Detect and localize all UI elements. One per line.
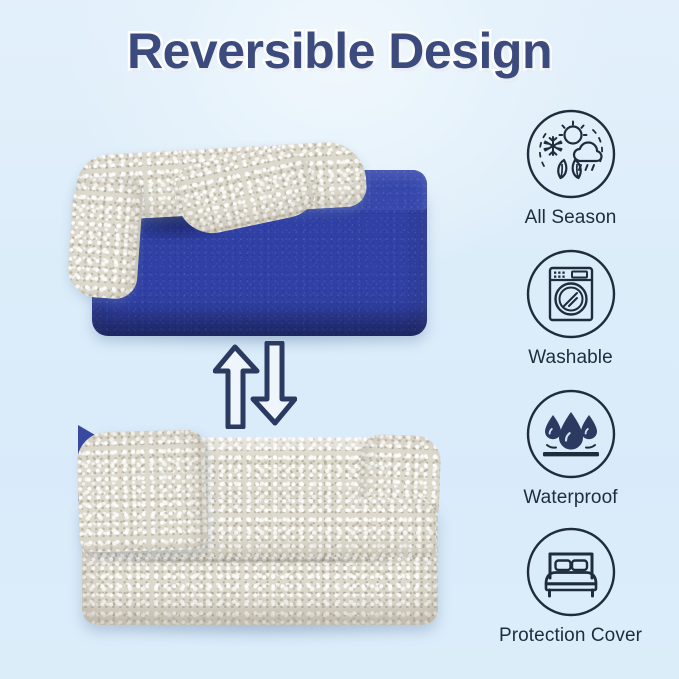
page-title-container: Reversible Design: [0, 22, 679, 80]
feature-label-protection-cover: Protection Cover: [462, 625, 679, 647]
feature-item-all-season: All Season: [462, 108, 679, 229]
reversible-arrows: [213, 341, 297, 429]
feature-item-waterproof: Waterproof: [462, 388, 679, 509]
arrow-up-icon: [215, 347, 257, 427]
feature-label-washable: Washable: [462, 347, 679, 369]
feature-list: All Season: [462, 108, 679, 668]
blanket-top-sherpa-flap: [66, 176, 144, 301]
feature-label-all-season: All Season: [462, 207, 679, 229]
blanket-blue-side-up: [68, 140, 443, 345]
feature-item-washable: Washable: [462, 248, 679, 369]
washing-machine-icon: [525, 248, 617, 340]
bed-icon: [525, 526, 617, 618]
all-season-icon: [525, 108, 617, 200]
blanket-bottom-sherpa-left: [76, 429, 207, 552]
infographic-page: Reversible Design: [0, 0, 679, 679]
arrow-down-icon: [253, 343, 295, 423]
feature-label-waterproof: Waterproof: [462, 487, 679, 509]
feature-item-protection-cover: Protection Cover: [462, 526, 679, 647]
water-droplets-icon: [525, 388, 617, 480]
blanket-sherpa-side-up: [78, 425, 448, 635]
page-title: Reversible Design: [127, 22, 552, 80]
